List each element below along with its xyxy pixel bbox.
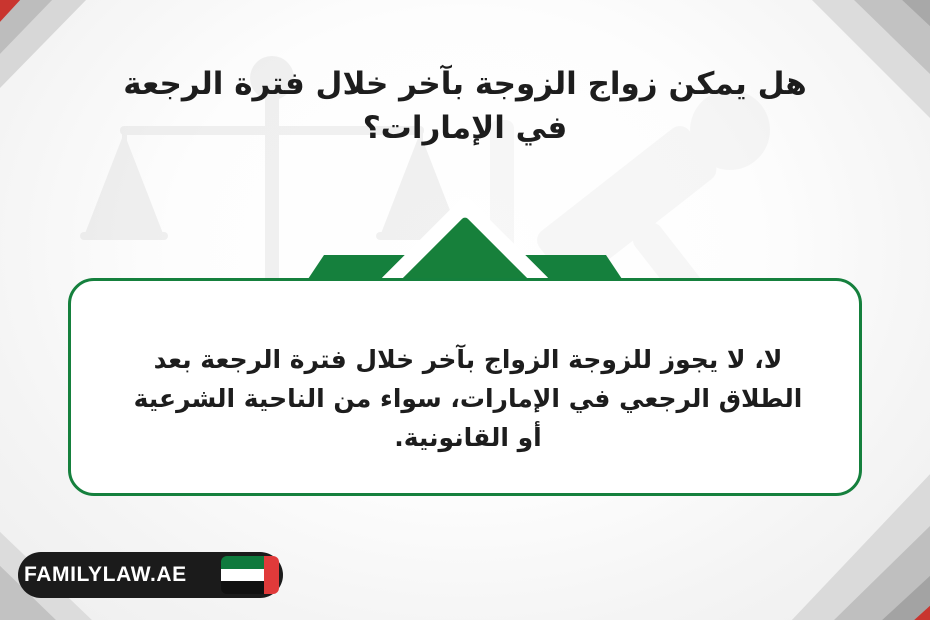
brand-badge: FAMILYLAW.AE [18, 552, 283, 598]
answer-text: لا، لا يجوز للزوجة الزواج بآخر خلال فترة… [131, 341, 805, 457]
faq-poster: هل يمكن زواج الزوجة بآخر خلال فترة الرجع… [0, 0, 930, 620]
brand-name: FAMILYLAW.AE [18, 563, 209, 587]
answer-card: لا، لا يجوز للزوجة الزواج بآخر خلال فترة… [68, 278, 862, 496]
page-title: هل يمكن زواج الزوجة بآخر خلال فترة الرجع… [100, 62, 830, 150]
uae-flag-icon [221, 556, 279, 594]
